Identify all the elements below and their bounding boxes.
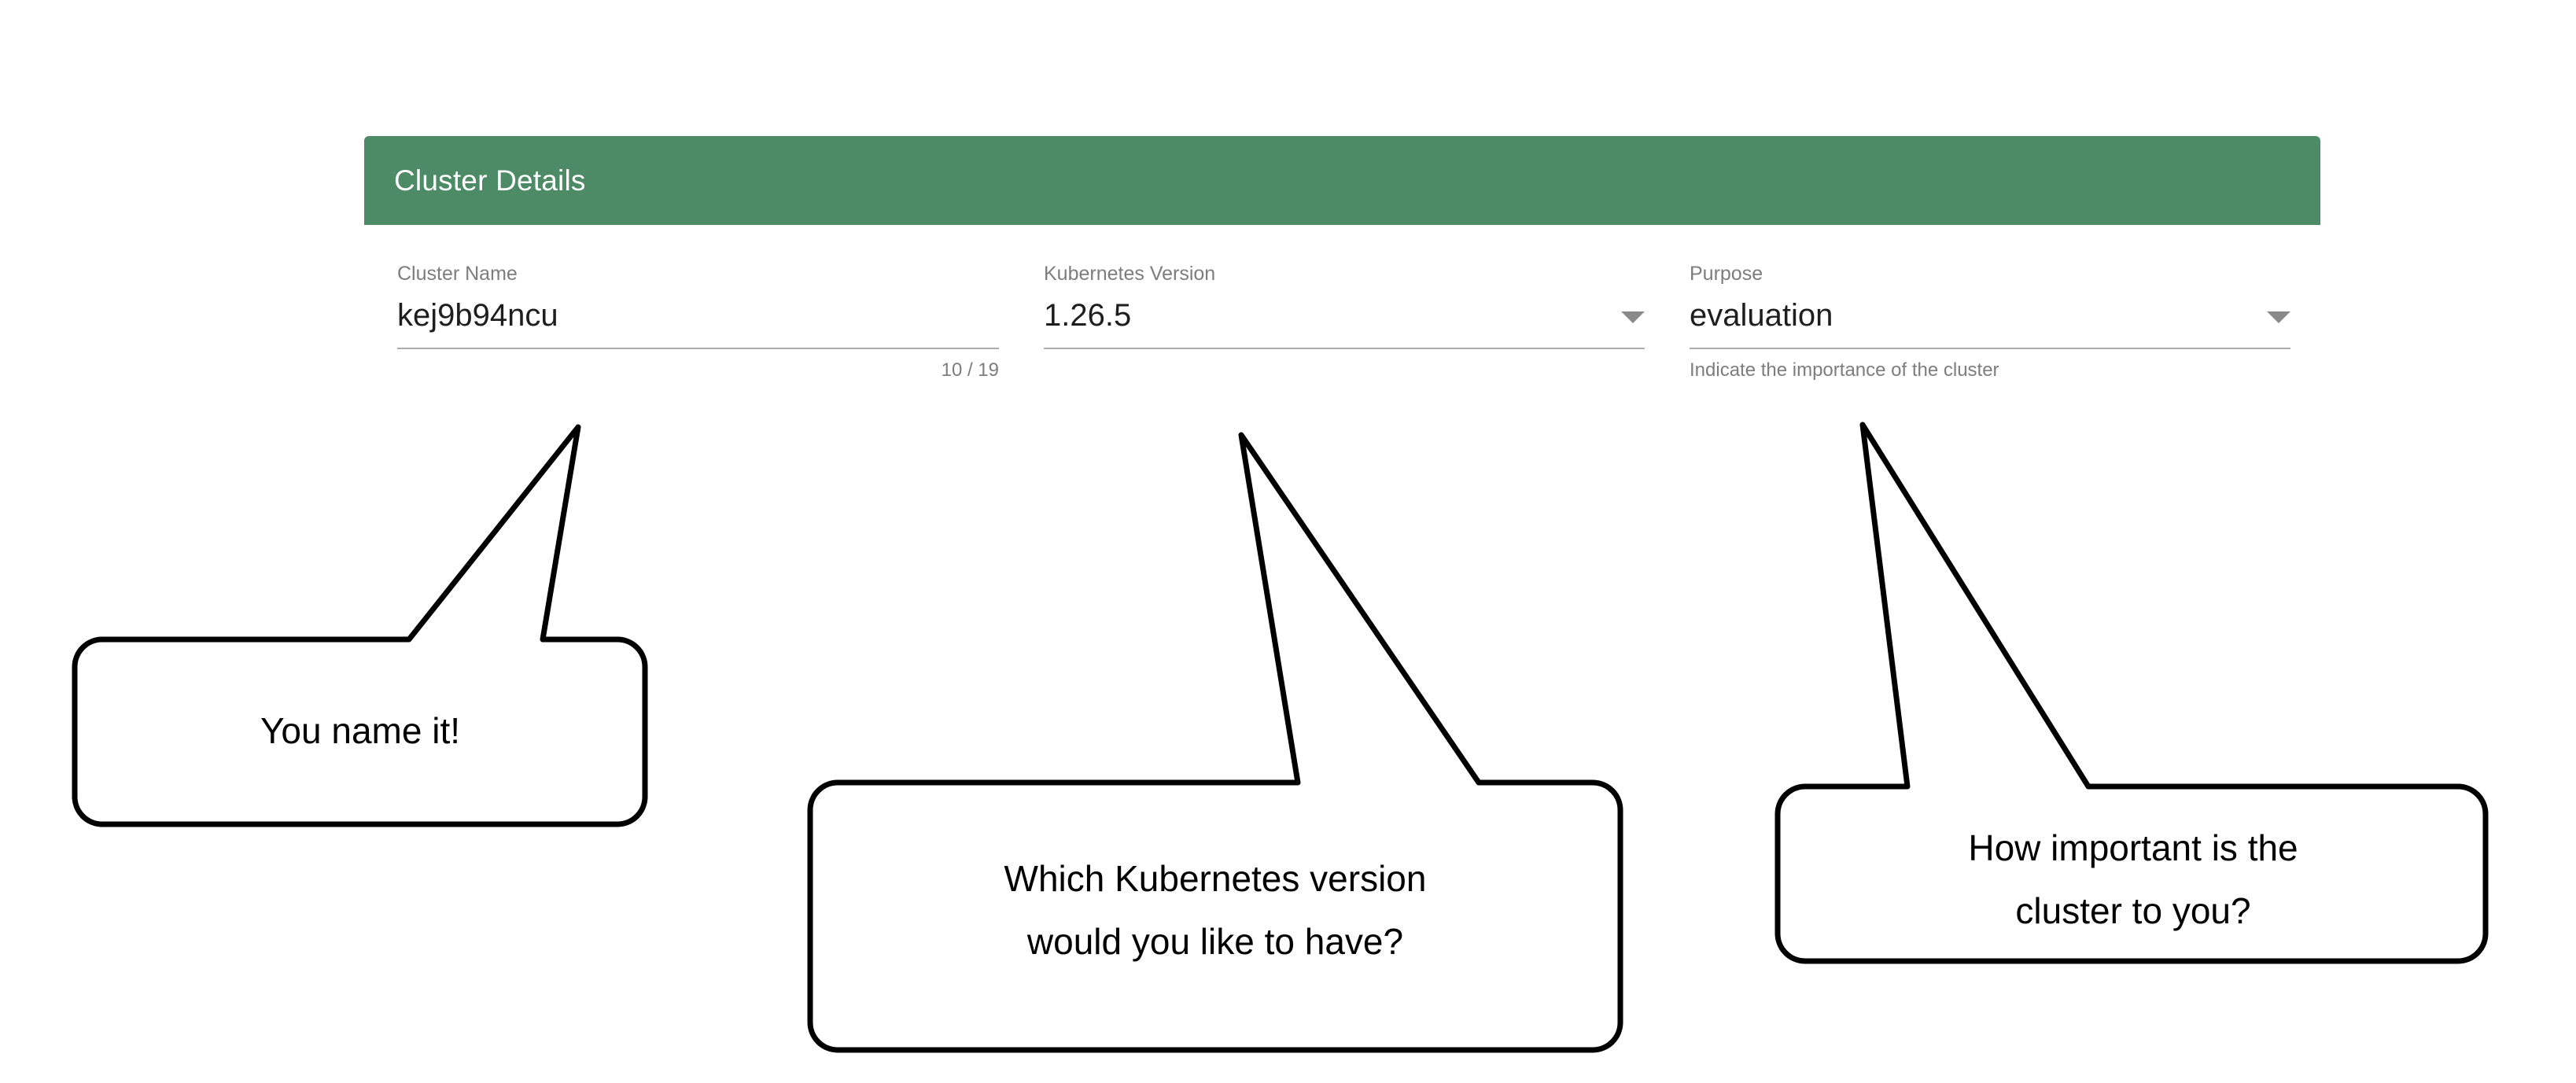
field-cluster-name: Cluster Name kej9b94ncu 10 / 19: [397, 264, 999, 381]
field-label-kubernetes-version: Kubernetes Version: [1044, 264, 1645, 284]
purpose-underline: [1690, 348, 2290, 349]
purpose-select[interactable]: evaluation: [1690, 299, 2290, 348]
callout-purpose: How important is the cluster to you?: [1778, 425, 2486, 961]
callout-cluster-name: You name it!: [75, 427, 645, 824]
kubernetes-version-value: 1.26.5: [1044, 299, 1131, 332]
field-label-cluster-name: Cluster Name: [397, 264, 999, 284]
cluster-name-underline: [397, 348, 999, 349]
purpose-value: evaluation: [1690, 299, 1833, 332]
callout-kubernetes-version-line-2: would you like to have?: [1026, 921, 1403, 962]
callout-purpose-line-2: cluster to you?: [2015, 890, 2250, 931]
cluster-details-card: Cluster Details: [364, 136, 2320, 225]
callout-purpose-line-1: How important is the: [1968, 827, 2298, 868]
cluster-details-form: Cluster Name kej9b94ncu 10 / 19 Kubernet…: [397, 264, 2293, 381]
callout-kubernetes-version: Which Kubernetes version would you like …: [810, 435, 1620, 1050]
kubernetes-version-select[interactable]: 1.26.5: [1044, 299, 1645, 348]
cluster-name-char-counter: 10 / 19: [397, 360, 999, 381]
purpose-hint: Indicate the importance of the cluster: [1690, 360, 2290, 381]
field-kubernetes-version: Kubernetes Version 1.26.5: [1044, 264, 1645, 381]
cluster-name-value: kej9b94ncu: [397, 299, 558, 332]
page-title: Cluster Details: [394, 164, 586, 197]
field-label-purpose: Purpose: [1690, 264, 2290, 284]
callout-kubernetes-version-line-1: Which Kubernetes version: [1004, 858, 1427, 899]
field-purpose: Purpose evaluation Indicate the importan…: [1690, 264, 2290, 381]
callout-cluster-name-line-1: You name it!: [260, 710, 460, 751]
kubernetes-version-underline: [1044, 348, 1645, 349]
chevron-down-icon[interactable]: [1621, 311, 1645, 323]
card-header: Cluster Details: [364, 136, 2320, 225]
chevron-down-icon[interactable]: [2267, 311, 2290, 323]
cluster-name-input[interactable]: kej9b94ncu: [397, 299, 999, 348]
